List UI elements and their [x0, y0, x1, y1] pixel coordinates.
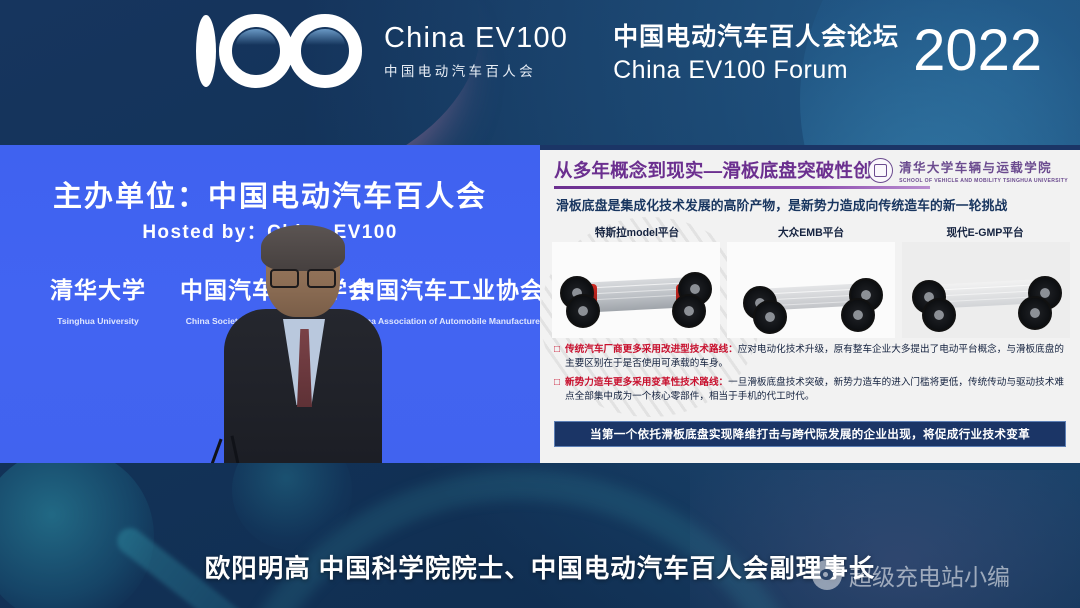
speaker-glasses	[270, 269, 336, 284]
microphone-left	[208, 439, 222, 463]
speaker-video-panel[interactable]: 主办单位：中国电动汽车百人会 Hosted by：China EV100 清华大…	[0, 145, 540, 463]
chassis-image-tesla	[552, 242, 720, 338]
brand-name-cn: 中国电动汽车百人会	[384, 60, 568, 80]
speaker-hair	[261, 225, 345, 271]
weibo-watermark: 超级充电站小编	[812, 558, 1010, 592]
brand-name-en: China EV100	[384, 22, 568, 55]
tsinghua-svm-logo: 清华大学车辆与运载学院 SCHOOL OF VEHICLE AND MOBILI…	[868, 157, 1068, 184]
forum-block: 中国电动汽车百人会论坛 China EV100 Forum 2022	[613, 17, 1042, 85]
slide-top-band	[540, 145, 1080, 150]
slide-bullet-item: □ 传统汽车厂商更多采用改进型技术路线：应对电动化技术升级，原有整车企业大多提出…	[554, 343, 1070, 372]
image-caption: 特斯拉model平台	[552, 225, 722, 240]
bullet-text: 传统汽车厂商更多采用改进型技术路线：应对电动化技术升级，原有整车企业大多提出了电…	[565, 343, 1070, 372]
bullet-marker-icon: □	[554, 376, 560, 405]
slide-bullet-item: □ 新势力造车更多采用变革性技术路线：一旦滑板底盘技术突破，新势力造车的进入门槛…	[554, 376, 1070, 405]
speaker-figure	[228, 229, 378, 463]
logo-ring-1	[219, 14, 293, 88]
tsinghua-logo-cn: 清华大学车辆与运载学院	[899, 157, 1068, 176]
organizer-name-cn: 清华大学	[16, 271, 180, 305]
brand-block: China EV100 中国电动汽车百人会	[384, 22, 568, 80]
slide-chassis-images	[552, 242, 1070, 338]
tsinghua-logo-en: SCHOOL OF VEHICLE AND MOBILITY TSINGHUA …	[899, 178, 1068, 184]
wheel	[753, 300, 787, 334]
tsinghua-seal-icon	[868, 158, 893, 183]
wheel	[1018, 296, 1052, 330]
bullet-marker-icon: □	[554, 343, 560, 372]
china-ev100-logo	[196, 14, 362, 88]
event-header: China EV100 中国电动汽车百人会 中国电动汽车百人会论坛 China …	[0, 0, 1080, 140]
chassis-image-hyundai-egmp	[902, 242, 1070, 338]
weibo-icon	[812, 560, 842, 590]
bullet-lead: 传统汽车厂商更多采用改进型技术路线：	[565, 344, 738, 355]
broadcast-screen: China EV100 中国电动汽车百人会 中国电动汽车百人会论坛 China …	[0, 0, 1080, 608]
forum-year: 2022	[913, 22, 1042, 80]
logo-ring-2	[288, 14, 362, 88]
weibo-account-name: 超级充电站小编	[849, 558, 1010, 592]
image-caption: 大众EMB平台	[726, 225, 896, 240]
logo-lens-shape	[196, 15, 216, 87]
forum-title-cn: 中国电动汽车百人会论坛	[613, 17, 899, 53]
forum-title-en: China EV100 Forum	[613, 56, 899, 85]
wheel	[566, 294, 600, 328]
slide-subtitle: 滑板底盘是集成化技术发展的高阶产物，是新势力造成向传统造车的新一轮挑战	[556, 195, 1071, 214]
organizer-name-en: Tsinghua University	[16, 316, 180, 326]
wheel	[672, 294, 706, 328]
header-divider	[590, 20, 591, 82]
slide-title: 从多年概念到现实—滑板底盘突破性创新	[554, 157, 891, 183]
wheel	[922, 298, 956, 332]
bullet-text: 新势力造车更多采用变革性技术路线：一旦滑板底盘技术突破，新势力造车的进入门槛将更…	[565, 376, 1070, 405]
image-caption: 现代E-GMP平台	[900, 225, 1070, 240]
chassis-image-vw-emb	[727, 242, 895, 338]
wheel	[841, 298, 875, 332]
presentation-slide-panel[interactable]: 从多年概念到现实—滑板底盘突破性创新 清华大学车辆与运载学院 SCHOOL OF…	[540, 145, 1080, 463]
slide-title-underline	[554, 186, 930, 189]
decor-molecule-ring	[210, 470, 830, 608]
organizer-item: 清华大学 Tsinghua University	[16, 271, 180, 326]
stage-backdrop-host-cn: 主办单位：中国电动汽车百人会	[0, 173, 540, 215]
slide-bullet-list: □ 传统汽车厂商更多采用改进型技术路线：应对电动化技术升级，原有整车企业大多提出…	[554, 343, 1070, 409]
bullet-lead: 新势力造车更多采用变革性技术路线：	[565, 377, 728, 388]
slide-conclusion-banner: 当第一个依托滑板底盘实现降维打击与跨代际发展的企业出现，将促成行业技术变革	[554, 421, 1066, 447]
slide-image-captions: 特斯拉model平台 大众EMB平台 现代E-GMP平台	[552, 225, 1070, 240]
